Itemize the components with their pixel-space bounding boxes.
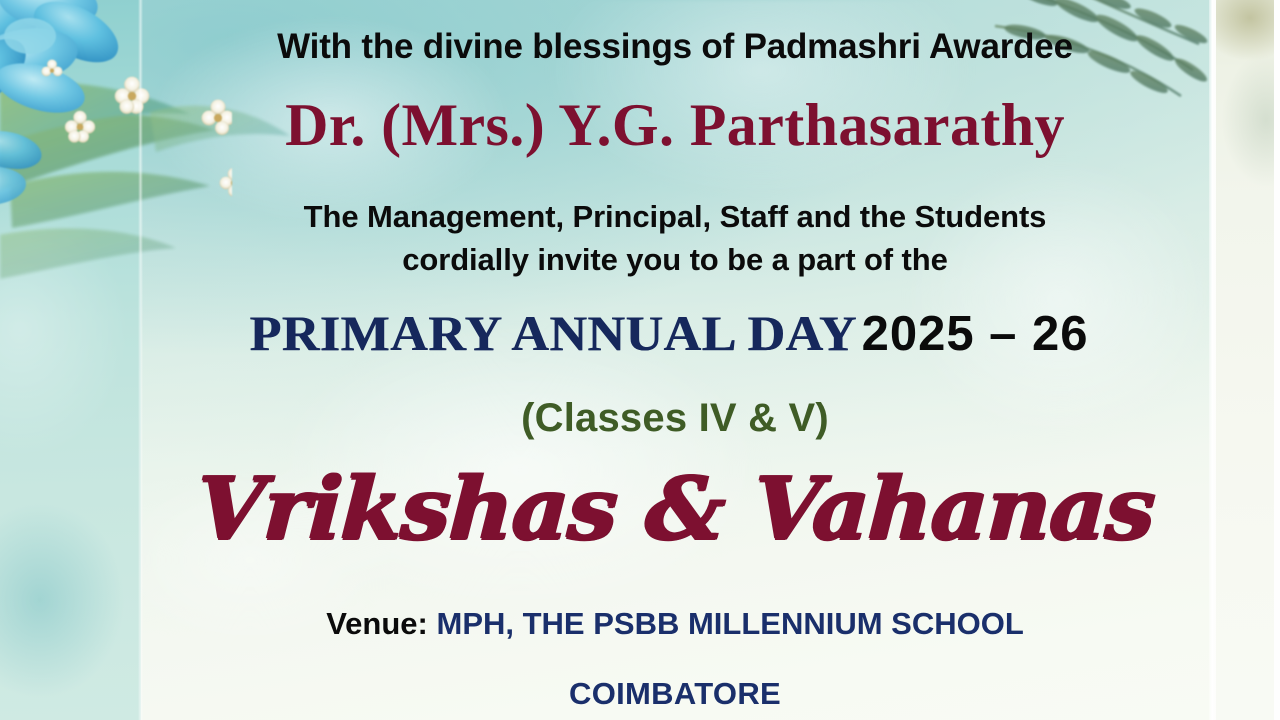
venue-label: Venue: xyxy=(326,606,428,641)
invitation-text-block: With the divine blessings of Padmashri A… xyxy=(141,0,1209,720)
venue-line: Venue: MPH, THE PSBB MILLENNIUM SCHOOL xyxy=(141,608,1209,639)
theme-title: Vrikshas & Vahanas xyxy=(128,460,1223,559)
blessing-line: With the divine blessings of Padmashri A… xyxy=(141,28,1209,67)
invitation-slide: With the divine blessings of Padmashri A… xyxy=(0,0,1280,720)
invite-lines: The Management, Principal, Staff and the… xyxy=(141,196,1209,282)
invite-line-1: The Management, Principal, Staff and the… xyxy=(141,196,1209,239)
honoree-name: Dr. (Mrs.) Y.G. Parthasarathy xyxy=(141,94,1209,157)
event-title: PRIMARY ANNUAL DAY xyxy=(250,308,857,358)
invite-line-2: cordially invite you to be a part of the xyxy=(141,239,1209,282)
right-background-panel xyxy=(1216,0,1274,720)
classes-line: (Classes IV & V) xyxy=(141,396,1209,441)
left-background-panel xyxy=(0,0,141,720)
right-white-edge xyxy=(1274,0,1280,720)
venue-value: MPH, THE PSBB MILLENNIUM SCHOOL xyxy=(437,606,1024,641)
event-year: 2025 – 26 xyxy=(862,310,1089,359)
venue-city: COIMBATORE xyxy=(141,676,1209,712)
right-panel-seam xyxy=(1209,0,1216,720)
event-heading: PRIMARY ANNUAL DAY 2025 – 26 xyxy=(141,308,1209,359)
